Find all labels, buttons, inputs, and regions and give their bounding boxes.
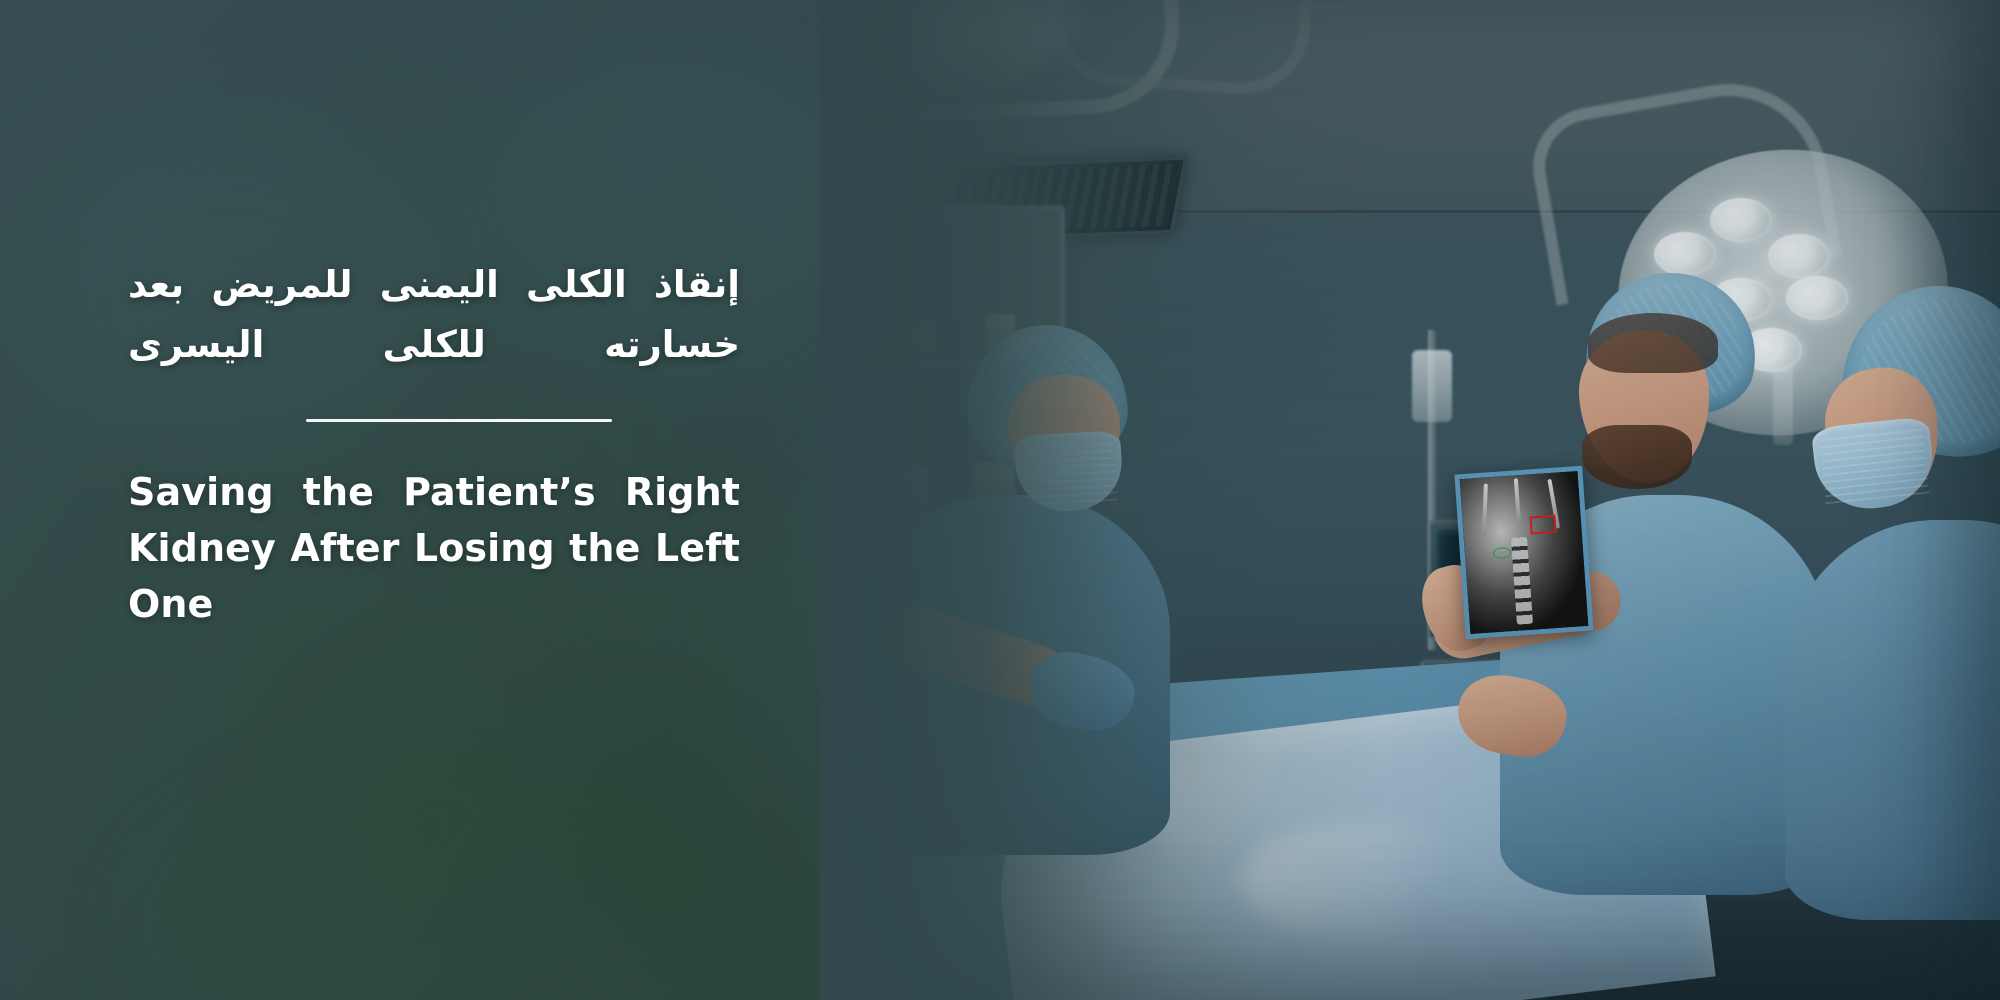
headline-english-line-1: Saving the Patient’s Right xyxy=(128,470,740,514)
headline-arabic: إنقاذ الكلى اليمنى للمريض بعد خسارته للك… xyxy=(128,255,740,375)
title-divider xyxy=(306,419,612,422)
headline-english-line-2: Kidney After Losing the Left One xyxy=(128,526,740,626)
article-hero-banner: إنقاذ الكلى اليمنى للمريض بعد خسارته للك… xyxy=(0,0,2000,1000)
photo-left-fade xyxy=(820,0,2000,1000)
operating-room-photo xyxy=(820,0,2000,1000)
headline-english: Saving the Patient’s Right Kidney After … xyxy=(128,464,740,633)
hero-text-block: إنقاذ الكلى اليمنى للمريض بعد خسارته للك… xyxy=(128,255,740,633)
